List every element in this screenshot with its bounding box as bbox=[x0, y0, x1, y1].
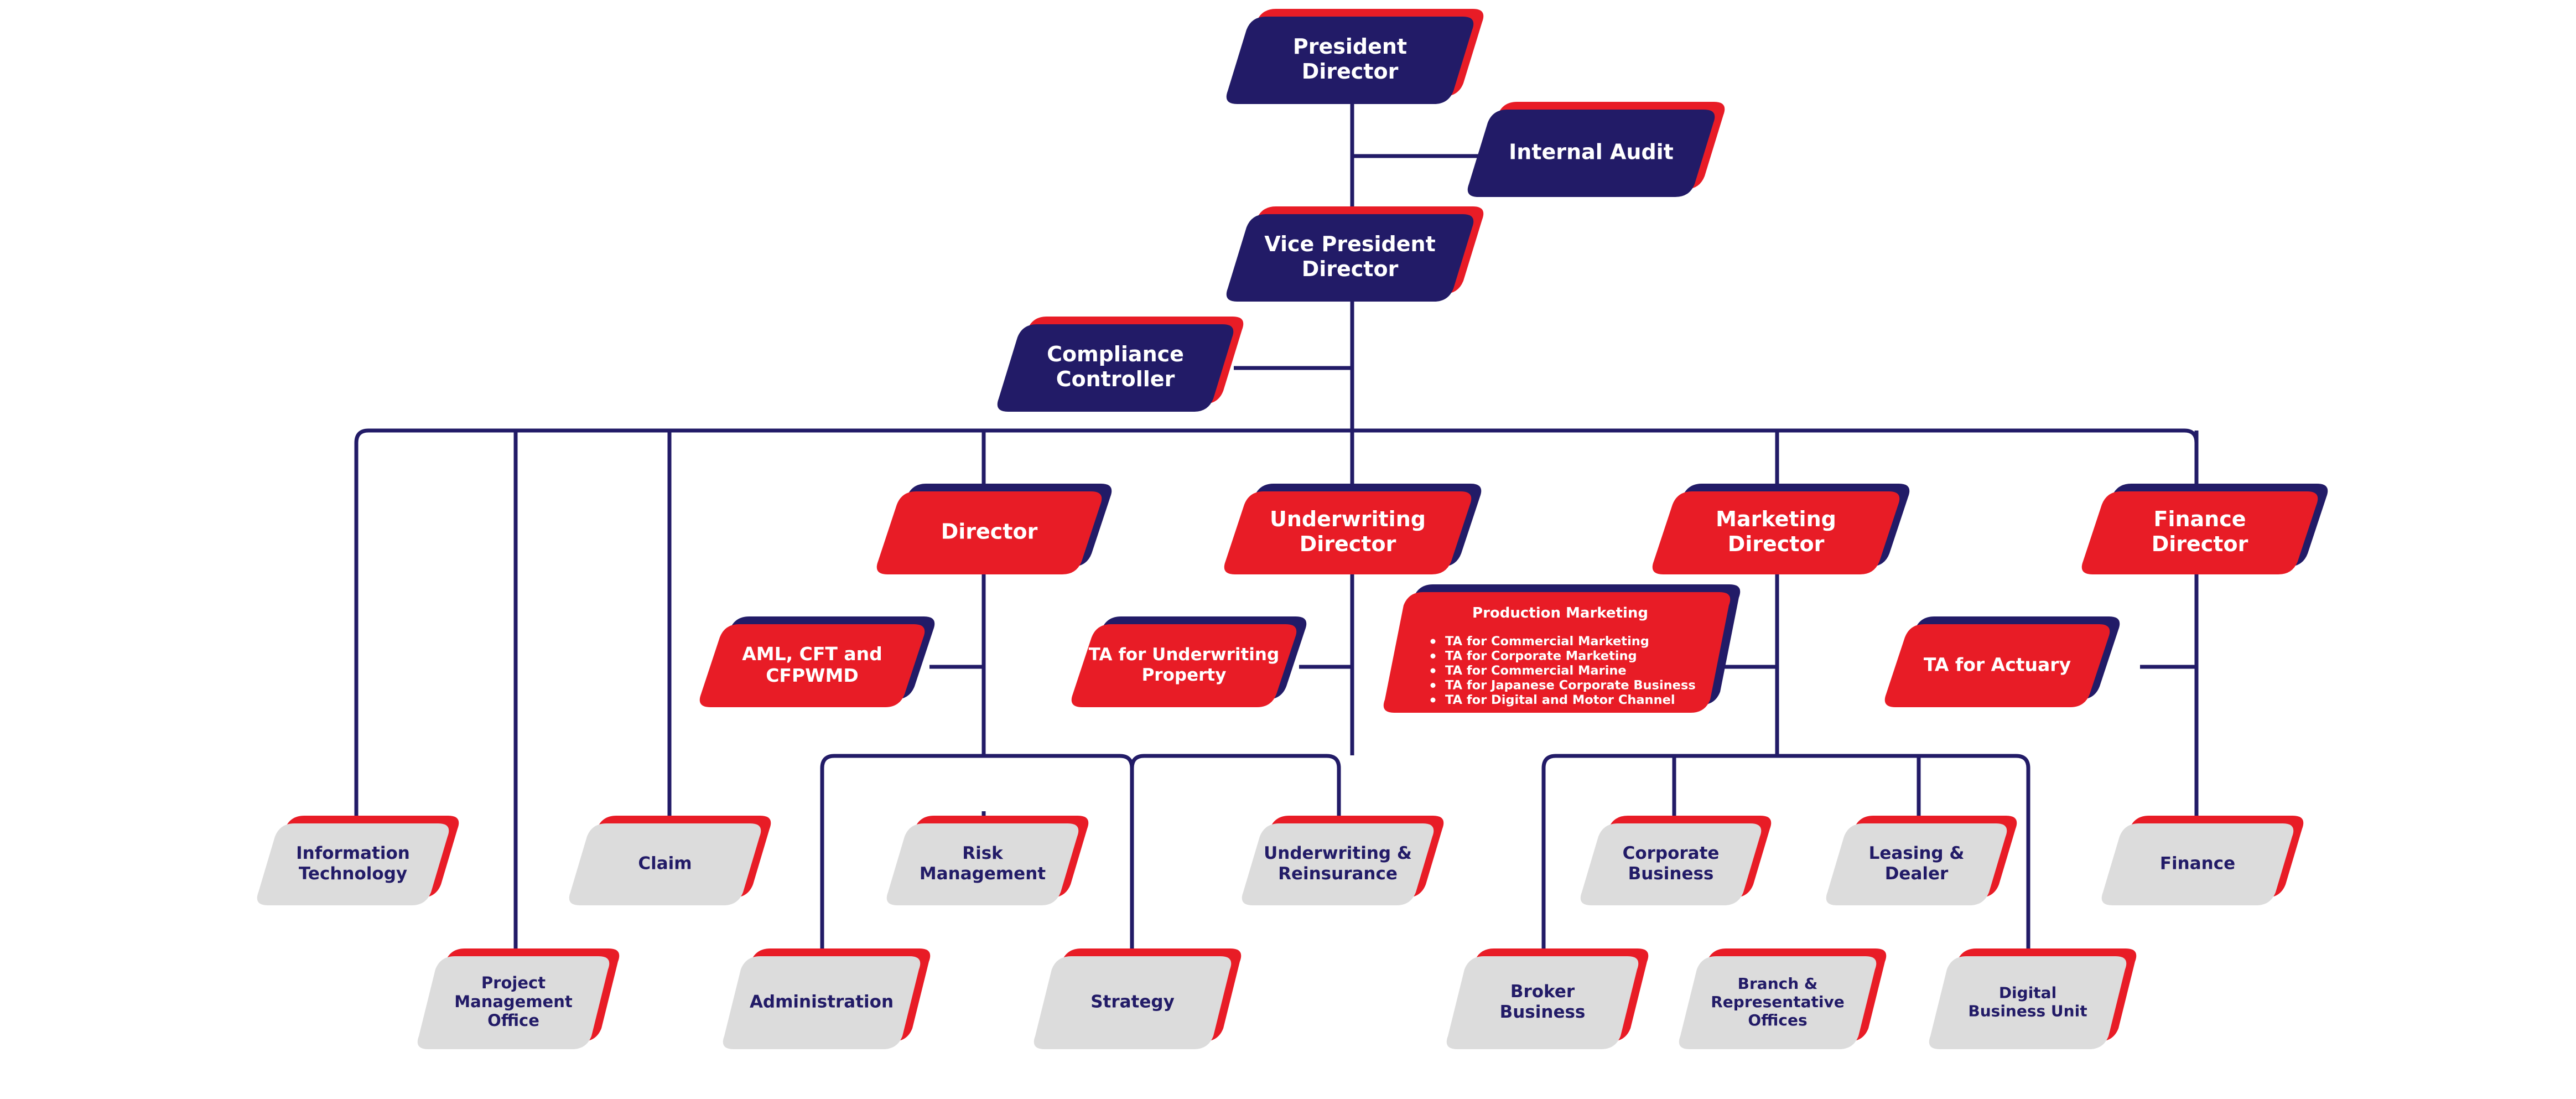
node-strategy[interactable]: Strategy bbox=[1034, 948, 1242, 1049]
node-shape bbox=[1072, 624, 1297, 707]
node-ta-underwriting-property[interactable]: TA for UnderwritingProperty bbox=[1072, 616, 1307, 707]
org-chart-svg: PresidentDirectorInternal AuditVice Pres… bbox=[0, 0, 2576, 1099]
node-shape bbox=[1826, 823, 2007, 905]
node-claim[interactable]: Claim bbox=[569, 816, 771, 905]
node-administration[interactable]: Administration bbox=[723, 948, 931, 1049]
node-shape bbox=[1929, 956, 2127, 1049]
node-shape bbox=[877, 491, 1102, 574]
bullet-icon bbox=[1431, 654, 1436, 659]
node-broker-business[interactable]: BrokerBusiness bbox=[1447, 948, 1649, 1049]
bullet-icon bbox=[1431, 668, 1436, 673]
node-shape bbox=[2102, 823, 2294, 905]
node-shape bbox=[1653, 491, 1900, 574]
node-vice-president-director[interactable]: Vice PresidentDirector bbox=[1227, 206, 1484, 302]
node-shape bbox=[1227, 214, 1474, 302]
node-shape bbox=[887, 823, 1079, 905]
node-shape bbox=[700, 624, 925, 707]
node-ta-for-actuary[interactable]: TA for Actuary bbox=[1885, 616, 2120, 707]
node-production-marketing[interactable]: Production MarketingTA for Commercial Ma… bbox=[1384, 584, 1741, 713]
node-shape bbox=[569, 823, 761, 905]
node-corporate-business[interactable]: CorporateBusiness bbox=[1581, 816, 1772, 905]
node-finance-director[interactable]: FinanceDirector bbox=[2082, 484, 2328, 574]
nodes-layer: PresidentDirectorInternal AuditVice Pres… bbox=[257, 9, 2328, 1049]
node-marketing-director[interactable]: MarketingDirector bbox=[1653, 484, 1910, 574]
node-shape bbox=[1447, 956, 1639, 1049]
node-shape bbox=[998, 324, 1234, 412]
production-marketing-item: TA for Digital and Motor Channel bbox=[1445, 693, 1675, 707]
node-compliance-controller[interactable]: ComplianceController bbox=[998, 317, 1244, 412]
node-shape bbox=[1242, 823, 1434, 905]
node-digital-business-unit[interactable]: DigitalBusiness Unit bbox=[1929, 948, 2137, 1049]
node-underwriting-reinsurance[interactable]: Underwriting &Reinsurance bbox=[1242, 816, 1444, 905]
node-shape bbox=[1885, 624, 2110, 707]
node-president-director[interactable]: PresidentDirector bbox=[1227, 9, 1484, 104]
production-marketing-item: TA for Japanese Corporate Business bbox=[1445, 678, 1696, 693]
node-shape bbox=[1227, 17, 1474, 104]
production-marketing-item: TA for Corporate Marketing bbox=[1445, 649, 1637, 663]
node-shape bbox=[1581, 823, 1762, 905]
node-finance[interactable]: Finance bbox=[2102, 816, 2304, 905]
production-marketing-title: Production Marketing bbox=[1472, 605, 1648, 621]
node-shape bbox=[723, 956, 921, 1049]
bullet-icon bbox=[1431, 639, 1436, 644]
node-shape bbox=[418, 956, 610, 1049]
node-shape bbox=[1679, 956, 1877, 1049]
node-leasing-dealer[interactable]: Leasing &Dealer bbox=[1826, 816, 2017, 905]
bullet-icon bbox=[1431, 698, 1436, 703]
node-shape bbox=[1468, 110, 1715, 197]
node-underwriting-director[interactable]: UnderwritingDirector bbox=[1224, 484, 1482, 574]
node-internal-audit[interactable]: Internal Audit bbox=[1468, 102, 1725, 197]
production-marketing-item: TA for Commercial Marketing bbox=[1445, 634, 1649, 649]
bullet-icon bbox=[1431, 683, 1436, 688]
org-chart-canvas: PresidentDirectorInternal AuditVice Pres… bbox=[0, 0, 2576, 1099]
node-shape bbox=[257, 823, 449, 905]
node-risk-management[interactable]: RiskManagement bbox=[887, 816, 1089, 905]
node-information-technology[interactable]: InformationTechnology bbox=[257, 816, 459, 905]
node-shape bbox=[2082, 491, 2318, 574]
node-director[interactable]: Director bbox=[877, 484, 1112, 574]
production-marketing-item: TA for Commercial Marine bbox=[1445, 663, 1627, 678]
node-project-management-office[interactable]: ProjectManagementOffice bbox=[418, 948, 620, 1049]
node-aml-cft-cfpwmd[interactable]: AML, CFT andCFPWMD bbox=[700, 616, 935, 707]
node-shape bbox=[1224, 491, 1472, 574]
node-branch-representative-offices[interactable]: Branch &RepresentativeOffices bbox=[1679, 948, 1887, 1049]
node-shape bbox=[1034, 956, 1232, 1049]
